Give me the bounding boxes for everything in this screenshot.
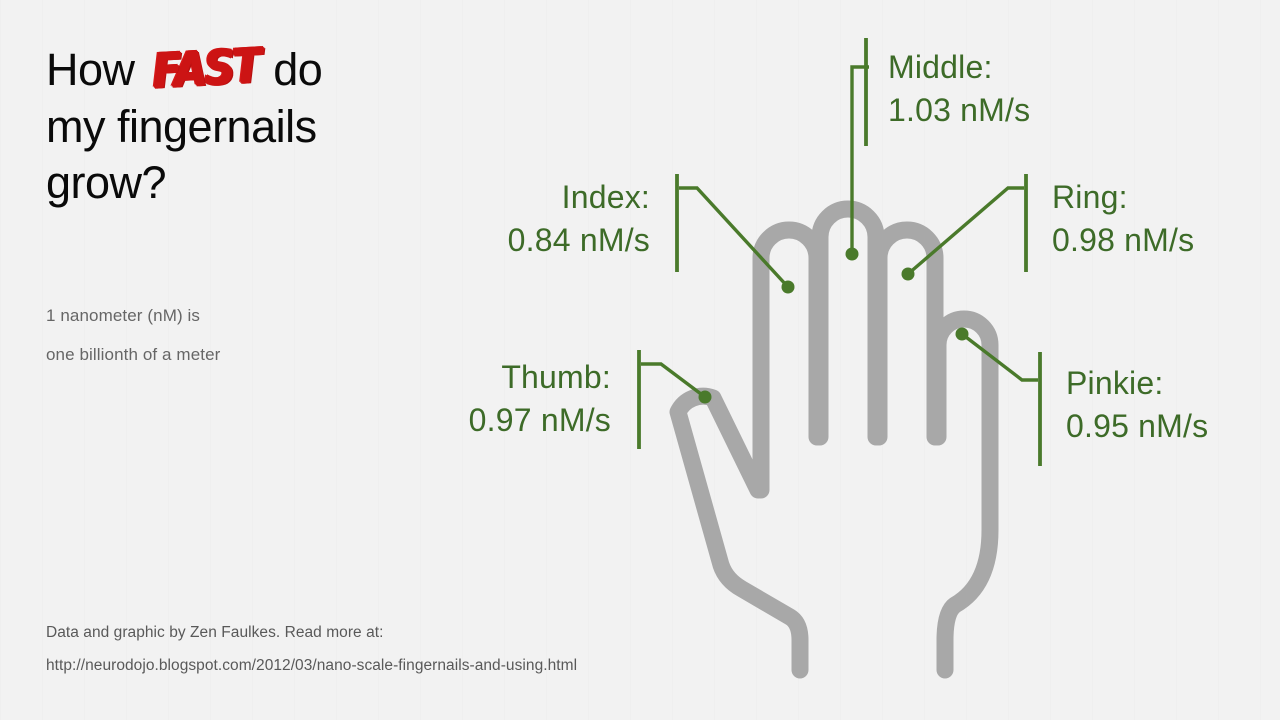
callout-pinkie-value: 0.95 nM/s [1066,405,1208,448]
title-line-3: grow? [46,155,466,211]
dot-ring [902,268,915,281]
dot-thumb [699,391,712,404]
title-emphasis-fast: FAST [151,35,261,104]
credit-text: Data and graphic by Zen Faulkes. Read mo… [46,616,786,649]
callout-middle-name: Middle: [888,46,1030,89]
callout-index: Index: 0.84 nM/s [508,176,650,262]
leader-line-middle [852,67,869,254]
callout-middle-value: 1.03 nM/s [888,89,1030,132]
callout-ring: Ring: 0.98 nM/s [1052,176,1194,262]
dot-pinkie [956,328,969,341]
title-line-1: How FAST do [46,42,466,99]
callout-thumb-name: Thumb: [469,356,611,399]
page-title: How FAST do my fingernails grow? [46,42,466,211]
dot-middle [846,248,859,261]
footer-credit: Data and graphic by Zen Faulkes. Read mo… [46,616,786,682]
callout-ring-value: 0.98 nM/s [1052,219,1194,262]
callout-thumb-value: 0.97 nM/s [469,399,611,442]
definition-line-2: one billionth of a meter [46,335,386,374]
infographic-slide: How FAST do my fingernails grow? 1 nanom… [0,0,1280,720]
finger-index-shape [761,230,817,490]
callout-pinkie-name: Pinkie: [1066,362,1208,405]
finger-pinkie-shape [938,319,990,670]
leader-dots [699,248,969,404]
finger-ring-shape [879,230,935,437]
dot-index [782,281,795,294]
title-text-before: How [46,44,147,95]
finger-middle-shape [820,209,876,437]
definition-line-1: 1 nanometer (nM) is [46,296,386,335]
callout-thumb: Thumb: 0.97 nM/s [469,356,611,442]
leader-line-pinkie [962,334,1038,380]
callout-index-name: Index: [508,176,650,219]
leader-line-ring [908,188,1024,274]
leader-line-thumb [641,364,705,397]
callout-ring-name: Ring: [1052,176,1194,219]
title-line-2: my fingernails [46,99,466,155]
callout-index-value: 0.84 nM/s [508,219,650,262]
callout-middle: Middle: 1.03 nM/s [888,46,1030,132]
source-url[interactable]: http://neurodojo.blogspot.com/2012/03/na… [46,649,786,682]
nanometer-definition: 1 nanometer (nM) is one billionth of a m… [46,296,386,374]
hand-outline [678,209,990,670]
leader-line-index [679,188,788,287]
title-text-after: do [261,44,322,95]
callout-pinkie: Pinkie: 0.95 nM/s [1066,362,1208,448]
